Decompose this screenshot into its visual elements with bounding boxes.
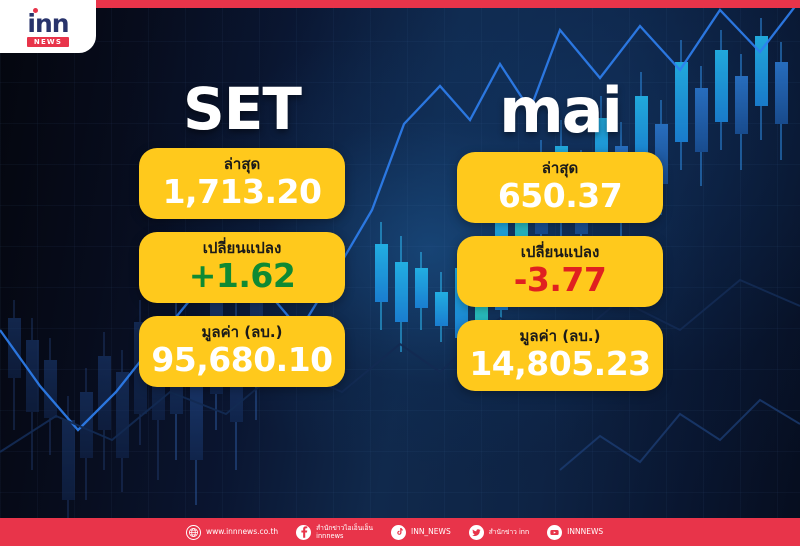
card-label-mai-turnover: มูลค่า (ลบ.)	[463, 326, 657, 346]
card-set-turnover[interactable]: มูลค่า (ลบ.) 95,680.10	[139, 316, 345, 387]
card-label-set-turnover: มูลค่า (ลบ.)	[145, 322, 339, 342]
index-column-set: SET ล่าสุด 1,713.20 เปลี่ยนแปลง +1.62 มู…	[112, 80, 372, 400]
card-value-set-turnover: 95,680.10	[145, 343, 339, 378]
background-stage: inn NEWS SET ล่าสุด 1,713.20 เปลี่ยนแปลง…	[0, 0, 800, 546]
card-mai-latest[interactable]: ล่าสุด 650.37	[457, 152, 663, 223]
facebook-icon	[296, 525, 311, 540]
footer-facebook-label: สำนักข่าวไอเอ็นเอ็น innnews	[316, 524, 373, 540]
footer-tiktok[interactable]: INN_NEWS	[391, 525, 451, 540]
footer-website[interactable]: www.innnews.co.th	[186, 525, 278, 540]
twitter-icon	[469, 525, 484, 540]
card-mai-change[interactable]: เปลี่ยนแปลง -3.77	[457, 236, 663, 307]
footer-facebook[interactable]: สำนักข่าวไอเอ็นเอ็น innnews	[296, 524, 373, 540]
footer-facebook-line1: สำนักข่าวไอเอ็นเอ็น	[316, 524, 373, 532]
card-value-mai-turnover: 14,805.23	[463, 347, 657, 382]
tiktok-icon	[391, 525, 406, 540]
logo-news-badge: NEWS	[27, 37, 68, 47]
card-value-set-latest: 1,713.20	[145, 175, 339, 210]
globe-icon	[186, 525, 201, 540]
footer-youtube-label: INNNEWS	[567, 527, 603, 536]
index-title-mai: mai	[430, 80, 690, 142]
top-red-bar	[0, 0, 800, 8]
footer-tiktok-label: INN_NEWS	[411, 527, 451, 536]
card-set-change[interactable]: เปลี่ยนแปลง +1.62	[139, 232, 345, 303]
footer-social-bar: www.innnews.co.th สำนักข่าวไอเอ็นเอ็น in…	[0, 518, 800, 546]
index-column-mai: mai ล่าสุด 650.37 เปลี่ยนแปลง -3.77 มูลค…	[430, 80, 690, 404]
trend-line-lower-right	[560, 400, 800, 470]
card-label-mai-latest: ล่าสุด	[463, 158, 657, 178]
logo-wordmark: inn	[27, 11, 68, 36]
footer-twitter-label: สำนักข่าว inn	[489, 528, 529, 536]
footer-twitter[interactable]: สำนักข่าว inn	[469, 525, 529, 540]
youtube-icon	[547, 525, 562, 540]
card-label-set-latest: ล่าสุด	[145, 154, 339, 174]
footer-facebook-line2: innnews	[316, 532, 373, 540]
footer-website-label: www.innnews.co.th	[206, 527, 278, 536]
card-label-set-change: เปลี่ยนแปลง	[145, 238, 339, 258]
card-value-mai-change: -3.77	[463, 263, 657, 298]
card-value-mai-latest: 650.37	[463, 179, 657, 214]
footer-youtube[interactable]: INNNEWS	[547, 525, 603, 540]
card-mai-turnover[interactable]: มูลค่า (ลบ.) 14,805.23	[457, 320, 663, 391]
card-label-mai-change: เปลี่ยนแปลง	[463, 242, 657, 262]
card-set-latest[interactable]: ล่าสุด 1,713.20	[139, 148, 345, 219]
index-title-set: SET	[112, 80, 372, 138]
card-value-set-change: +1.62	[145, 259, 339, 294]
inn-news-logo[interactable]: inn NEWS	[0, 0, 96, 53]
